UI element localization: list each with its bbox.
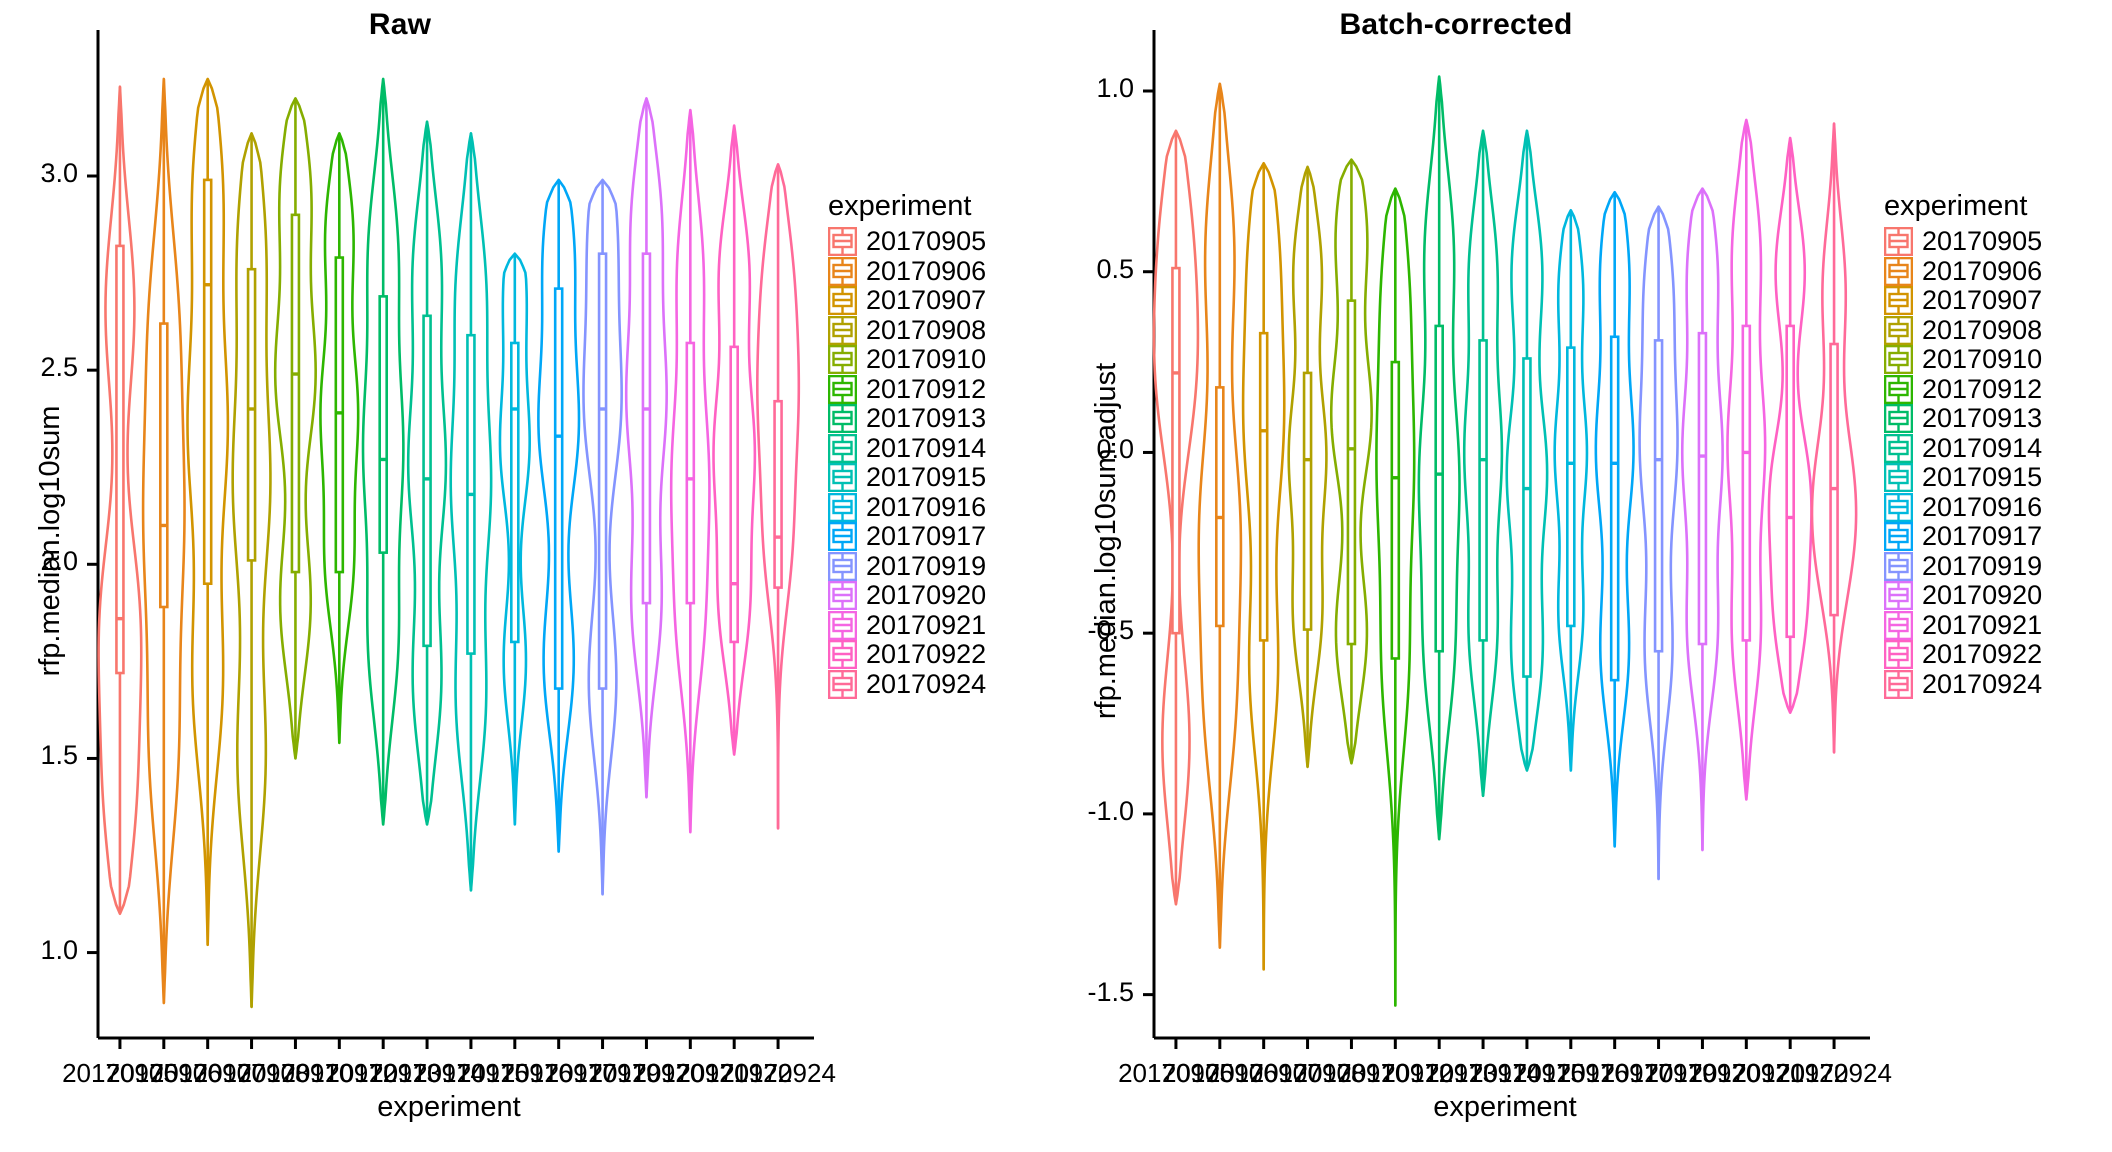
legend-key-swatch xyxy=(1884,522,1913,551)
legend-item-label: 20170916 xyxy=(866,494,986,521)
boxplot-box xyxy=(1655,340,1662,651)
legend-raw: experiment 20170905201709062017090720170… xyxy=(828,190,986,699)
boxplot-box xyxy=(643,254,650,603)
boxplot-box xyxy=(687,343,694,603)
legend-item-20170914[interactable]: 20170914 xyxy=(1884,434,2042,464)
legend-item-label: 20170917 xyxy=(1922,523,2042,550)
y-tick-label: 3.0 xyxy=(40,158,78,189)
legend-item-label: 20170922 xyxy=(1922,641,2042,668)
legend-key-swatch xyxy=(1884,316,1913,345)
legend-item-20170913[interactable]: 20170913 xyxy=(1884,404,2042,434)
legend-item-label: 20170907 xyxy=(866,287,986,314)
legend-item-20170917[interactable]: 20170917 xyxy=(1884,522,2042,552)
y-tick-label: 1.0 xyxy=(1096,73,1134,104)
legend-item-20170910[interactable]: 20170910 xyxy=(828,345,986,375)
y-tick-label: 2.5 xyxy=(40,352,78,383)
legend-item-20170912[interactable]: 20170912 xyxy=(1884,375,2042,405)
boxplot-box xyxy=(292,215,299,572)
legend-key-swatch xyxy=(1884,611,1913,640)
legend-item-20170915[interactable]: 20170915 xyxy=(828,463,986,493)
legend-key-swatch xyxy=(828,493,857,522)
legend-key-swatch xyxy=(828,345,857,374)
legend-item-label: 20170914 xyxy=(866,435,986,462)
legend-item-label: 20170908 xyxy=(1922,317,2042,344)
legend-key-swatch xyxy=(828,611,857,640)
legend-item-20170907[interactable]: 20170907 xyxy=(828,286,986,316)
boxplot-box xyxy=(1831,344,1838,615)
legend-title: experiment xyxy=(1884,190,2042,223)
legend-item-label: 20170924 xyxy=(1922,671,2042,698)
y-tick-label: 1.5 xyxy=(40,740,78,771)
boxplot-box xyxy=(1743,326,1750,640)
legend-key-swatch xyxy=(1884,493,1913,522)
legend-item-label: 20170908 xyxy=(866,317,986,344)
legend-key-swatch xyxy=(1884,434,1913,463)
boxplot-box xyxy=(555,289,562,689)
boxplot-box xyxy=(248,269,255,560)
boxplot-box xyxy=(1787,326,1794,637)
figure-root: Raw rfp.median.log10sum experiment 1.01.… xyxy=(0,0,2112,1152)
legend-item-label: 20170905 xyxy=(866,228,986,255)
y-tick-label: 0.5 xyxy=(1096,254,1134,285)
legend-item-label: 20170921 xyxy=(866,612,986,639)
legend-entries: 2017090520170906201709072017090820170910… xyxy=(1884,227,2042,699)
legend-item-20170908[interactable]: 20170908 xyxy=(1884,316,2042,346)
legend-item-20170916[interactable]: 20170916 xyxy=(828,493,986,523)
legend-item-label: 20170910 xyxy=(866,346,986,373)
legend-key-swatch xyxy=(828,227,857,256)
legend-item-label: 20170919 xyxy=(1922,553,2042,580)
legend-batch: experiment 20170905201709062017090720170… xyxy=(1884,190,2042,699)
legend-key-swatch xyxy=(1884,286,1913,315)
boxplot-box xyxy=(1348,301,1355,644)
legend-item-label: 20170922 xyxy=(866,641,986,668)
legend-key-swatch xyxy=(828,552,857,581)
legend-item-20170912[interactable]: 20170912 xyxy=(828,375,986,405)
boxplot-box xyxy=(1436,326,1443,651)
y-tick-label: 1.0 xyxy=(40,935,78,966)
legend-key-swatch xyxy=(828,581,857,610)
legend-item-20170916[interactable]: 20170916 xyxy=(1884,493,2042,523)
legend-item-label: 20170912 xyxy=(1922,376,2042,403)
legend-key-swatch xyxy=(828,522,857,551)
legend-key-swatch xyxy=(828,463,857,492)
boxplot-box xyxy=(1567,348,1574,626)
boxplot-box xyxy=(1392,362,1399,658)
legend-item-label: 20170915 xyxy=(1922,464,2042,491)
legend-item-20170922[interactable]: 20170922 xyxy=(1884,640,2042,670)
legend-item-20170915[interactable]: 20170915 xyxy=(1884,463,2042,493)
legend-item-label: 20170914 xyxy=(1922,435,2042,462)
legend-item-label: 20170905 xyxy=(1922,228,2042,255)
legend-item-label: 20170906 xyxy=(1922,258,2042,285)
legend-key-swatch xyxy=(828,434,857,463)
boxplot-box xyxy=(511,343,518,642)
boxplot-box xyxy=(599,254,606,689)
legend-item-20170910[interactable]: 20170910 xyxy=(1884,345,2042,375)
boxplot-box xyxy=(1699,333,1706,644)
legend-key-swatch xyxy=(1884,640,1913,669)
legend-item-label: 20170921 xyxy=(1922,612,2042,639)
boxplot-box xyxy=(1260,333,1267,640)
legend-item-20170905[interactable]: 20170905 xyxy=(828,227,986,257)
legend-key-swatch xyxy=(828,316,857,345)
legend-key-swatch xyxy=(1884,345,1913,374)
legend-item-20170924[interactable]: 20170924 xyxy=(1884,670,2042,700)
y-tick-label: 2.0 xyxy=(40,546,78,577)
y-tick-label: -1.5 xyxy=(1087,977,1134,1008)
legend-item-label: 20170913 xyxy=(866,405,986,432)
boxplot-box xyxy=(1480,340,1487,640)
legend-item-label: 20170917 xyxy=(866,523,986,550)
y-tick-label: 0.0 xyxy=(1096,434,1134,465)
boxplot-box xyxy=(160,324,167,607)
legend-item-label: 20170907 xyxy=(1922,287,2042,314)
legend-title: experiment xyxy=(828,190,986,223)
legend-item-label: 20170915 xyxy=(866,464,986,491)
legend-item-20170920[interactable]: 20170920 xyxy=(828,581,986,611)
legend-key-swatch xyxy=(828,404,857,433)
boxplot-box xyxy=(1172,268,1179,633)
legend-key-swatch xyxy=(1884,463,1913,492)
legend-key-swatch xyxy=(1884,552,1913,581)
legend-item-label: 20170924 xyxy=(866,671,986,698)
legend-item-20170919[interactable]: 20170919 xyxy=(828,552,986,582)
legend-key-swatch xyxy=(828,670,857,699)
y-tick-label: -0.5 xyxy=(1087,615,1134,646)
legend-item-20170917[interactable]: 20170917 xyxy=(828,522,986,552)
x-tick-label: 20170924 xyxy=(1776,1058,1892,1089)
panel-raw: Raw rfp.median.log10sum experiment 1.01.… xyxy=(0,0,1056,1152)
legend-key-swatch xyxy=(828,257,857,286)
boxplot-box xyxy=(424,316,431,646)
boxplot-box xyxy=(116,246,123,673)
legend-item-label: 20170919 xyxy=(866,553,986,580)
legend-key-swatch xyxy=(828,640,857,669)
legend-item-20170922[interactable]: 20170922 xyxy=(828,640,986,670)
legend-item-20170906[interactable]: 20170906 xyxy=(828,257,986,287)
legend-key-swatch xyxy=(1884,375,1913,404)
legend-item-label: 20170920 xyxy=(1922,582,2042,609)
legend-item-20170905[interactable]: 20170905 xyxy=(1884,227,2042,257)
panel-batch-corrected: Batch-corrected rfp.median.log10sum.adju… xyxy=(1056,0,2112,1152)
legend-item-20170924[interactable]: 20170924 xyxy=(828,670,986,700)
legend-item-20170908[interactable]: 20170908 xyxy=(828,316,986,346)
legend-item-label: 20170920 xyxy=(866,582,986,609)
legend-item-label: 20170912 xyxy=(866,376,986,403)
legend-key-swatch xyxy=(1884,581,1913,610)
legend-item-20170913[interactable]: 20170913 xyxy=(828,404,986,434)
boxplot-box xyxy=(380,296,387,552)
legend-key-swatch xyxy=(1884,227,1913,256)
legend-item-20170919[interactable]: 20170919 xyxy=(1884,552,2042,582)
boxplot-box xyxy=(336,258,343,573)
boxplot-box xyxy=(204,180,211,584)
legend-key-swatch xyxy=(1884,257,1913,286)
y-tick-label: -1.0 xyxy=(1087,796,1134,827)
legend-key-swatch xyxy=(1884,670,1913,699)
legend-item-label: 20170916 xyxy=(1922,494,2042,521)
x-tick-label: 20170924 xyxy=(720,1058,836,1089)
boxplot-box xyxy=(1216,387,1223,626)
boxplot-box xyxy=(1611,337,1618,680)
legend-key-swatch xyxy=(1884,404,1913,433)
legend-item-20170921[interactable]: 20170921 xyxy=(1884,611,2042,641)
legend-item-20170921[interactable]: 20170921 xyxy=(828,611,986,641)
legend-item-20170920[interactable]: 20170920 xyxy=(1884,581,2042,611)
boxplot-box xyxy=(775,401,782,587)
legend-key-swatch xyxy=(828,286,857,315)
boxplot-box xyxy=(731,347,738,642)
legend-item-label: 20170913 xyxy=(1922,405,2042,432)
boxplot-box xyxy=(1304,373,1311,630)
boxplot-box xyxy=(1523,358,1530,676)
legend-item-label: 20170910 xyxy=(1922,346,2042,373)
legend-item-20170906[interactable]: 20170906 xyxy=(1884,257,2042,287)
legend-key-swatch xyxy=(828,375,857,404)
legend-item-label: 20170906 xyxy=(866,258,986,285)
legend-item-20170914[interactable]: 20170914 xyxy=(828,434,986,464)
legend-entries: 2017090520170906201709072017090820170910… xyxy=(828,227,986,699)
legend-item-20170907[interactable]: 20170907 xyxy=(1884,286,2042,316)
